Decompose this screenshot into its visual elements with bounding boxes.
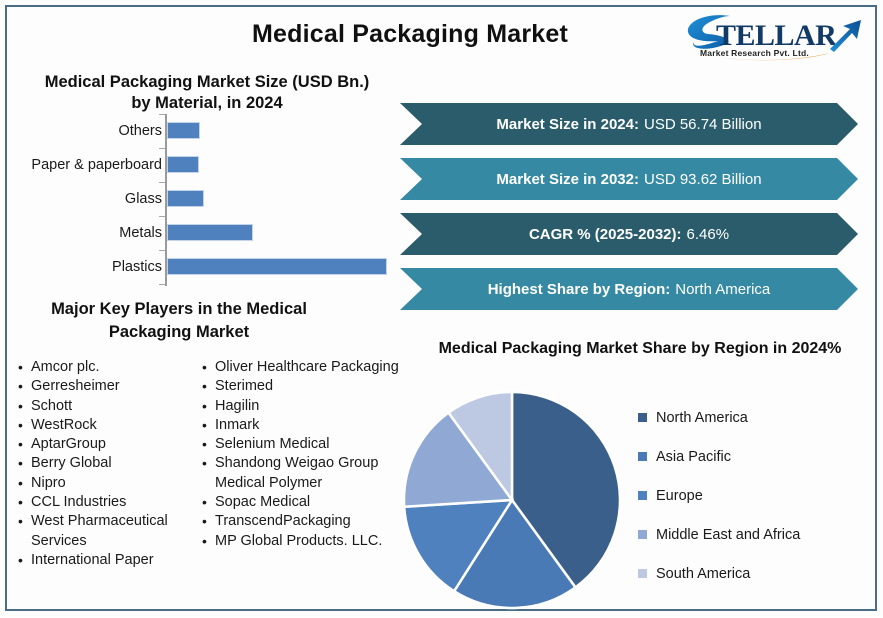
key-player-item: TranscendPackaging (215, 512, 403, 531)
infographic-page: Medical Packaging Market TELLAR (0, 0, 883, 617)
pie-chart-title: Medical Packaging Market Share by Region… (430, 338, 850, 360)
stat-banner-value: USD 93.62 Billion (644, 171, 762, 188)
key-player-item: Shandong Weigao Group Medical Polymer (215, 454, 403, 493)
bar-row: Glass (10, 182, 390, 216)
stat-banner-value: USD 56.74 Billion (644, 116, 762, 133)
key-player-item: Sopac Medical (215, 493, 403, 512)
key-player-item: West Pharmaceutical Services (31, 512, 199, 551)
stat-banner-label: Highest Share by Region: (488, 281, 671, 298)
logo-tagline: Market Research Pvt. Ltd. (700, 48, 809, 58)
legend-item: Asia Pacific (638, 437, 878, 476)
legend-item: Middle East and Africa (638, 515, 878, 554)
legend-item: North America (638, 398, 878, 437)
key-player-item: Selenium Medical (215, 435, 403, 454)
legend-swatch (638, 452, 647, 461)
key-player-item: Oliver Healthcare Packaging (215, 358, 403, 377)
stat-banner-value: North America (675, 281, 770, 298)
stat-banner-label: CAGR % (2025-2032): (529, 226, 682, 243)
key-player-item: Gerresheimer (31, 377, 199, 396)
bar-category-label: Metals (10, 216, 162, 250)
stat-banner: Market Size in 2032:USD 93.62 Billion (400, 158, 858, 200)
bar-segment (167, 122, 200, 139)
bar-axis-tick (159, 182, 165, 183)
legend-swatch (638, 413, 647, 422)
key-player-item: CCL Industries (31, 493, 199, 512)
bar-axis-tick (159, 114, 165, 115)
bar-axis-tick (159, 148, 165, 149)
key-player-item: Nipro (31, 474, 199, 493)
bar-row: Metals (10, 216, 390, 250)
key-player-item: WestRock (31, 416, 199, 435)
bar-segment (167, 258, 387, 275)
stat-banner: CAGR % (2025-2032):6.46% (400, 213, 858, 255)
stat-banner: Highest Share by Region:North America (400, 268, 858, 310)
pie-chart: North America: 40%Asia Pacific: 19%Europ… (400, 388, 625, 613)
key-players-column-left: Amcor plc.GerresheimerSchottWestRockApta… (14, 358, 199, 570)
bar-axis-tick (159, 216, 165, 217)
stat-banner-value: 6.46% (687, 226, 730, 243)
key-player-item: Amcor plc. (31, 358, 199, 377)
bar-segment (167, 190, 204, 207)
bar-category-label: Glass (10, 182, 162, 216)
bar-row: Plastics (10, 250, 390, 284)
stat-banner-label: Market Size in 2024: (496, 116, 639, 133)
key-player-item: International Paper (31, 551, 199, 570)
legend-label: North America (656, 410, 748, 426)
key-player-item: Berry Global (31, 454, 199, 473)
stat-banner: Market Size in 2024:USD 56.74 Billion (400, 103, 858, 145)
key-player-item: AptarGroup (31, 435, 199, 454)
legend-swatch (638, 491, 647, 500)
stat-banner-label: Market Size in 2032: (496, 171, 639, 188)
key-players-title: Major Key Players in the Medical Packagi… (14, 298, 344, 344)
legend-label: Asia Pacific (656, 449, 731, 465)
bar-chart-title: Medical Packaging Market Size (USD Bn.) … (42, 72, 372, 114)
key-player-item: MP Global Products. LLC. (215, 532, 403, 551)
key-player-item: Inmark (215, 416, 403, 435)
key-player-item: Hagilin (215, 397, 403, 416)
legend-label: South America (656, 566, 750, 582)
legend-label: Middle East and Africa (656, 527, 800, 543)
key-players-column-right: Oliver Healthcare PackagingSterimedHagil… (198, 358, 403, 551)
bar-axis-tick (159, 250, 165, 251)
legend-swatch (638, 569, 647, 578)
bar-category-label: Plastics (10, 250, 162, 284)
key-player-item: Schott (31, 397, 199, 416)
bar-segment (167, 156, 199, 173)
legend-item: South America (638, 554, 878, 593)
bar-row: Others (10, 114, 390, 148)
pie-chart-legend: North AmericaAsia PacificEuropeMiddle Ea… (638, 398, 878, 593)
bar-category-label: Paper & paperboard (10, 148, 162, 182)
bar-segment (167, 224, 253, 241)
key-player-item: Sterimed (215, 377, 403, 396)
legend-item: Europe (638, 476, 878, 515)
legend-swatch (638, 530, 647, 539)
page-title: Medical Packaging Market (180, 20, 640, 49)
bar-chart: OthersPaper & paperboardGlassMetalsPlast… (10, 114, 390, 286)
bar-category-label: Others (10, 114, 162, 148)
bar-row: Paper & paperboard (10, 148, 390, 182)
bar-axis-tick (159, 284, 165, 285)
legend-label: Europe (656, 488, 703, 504)
